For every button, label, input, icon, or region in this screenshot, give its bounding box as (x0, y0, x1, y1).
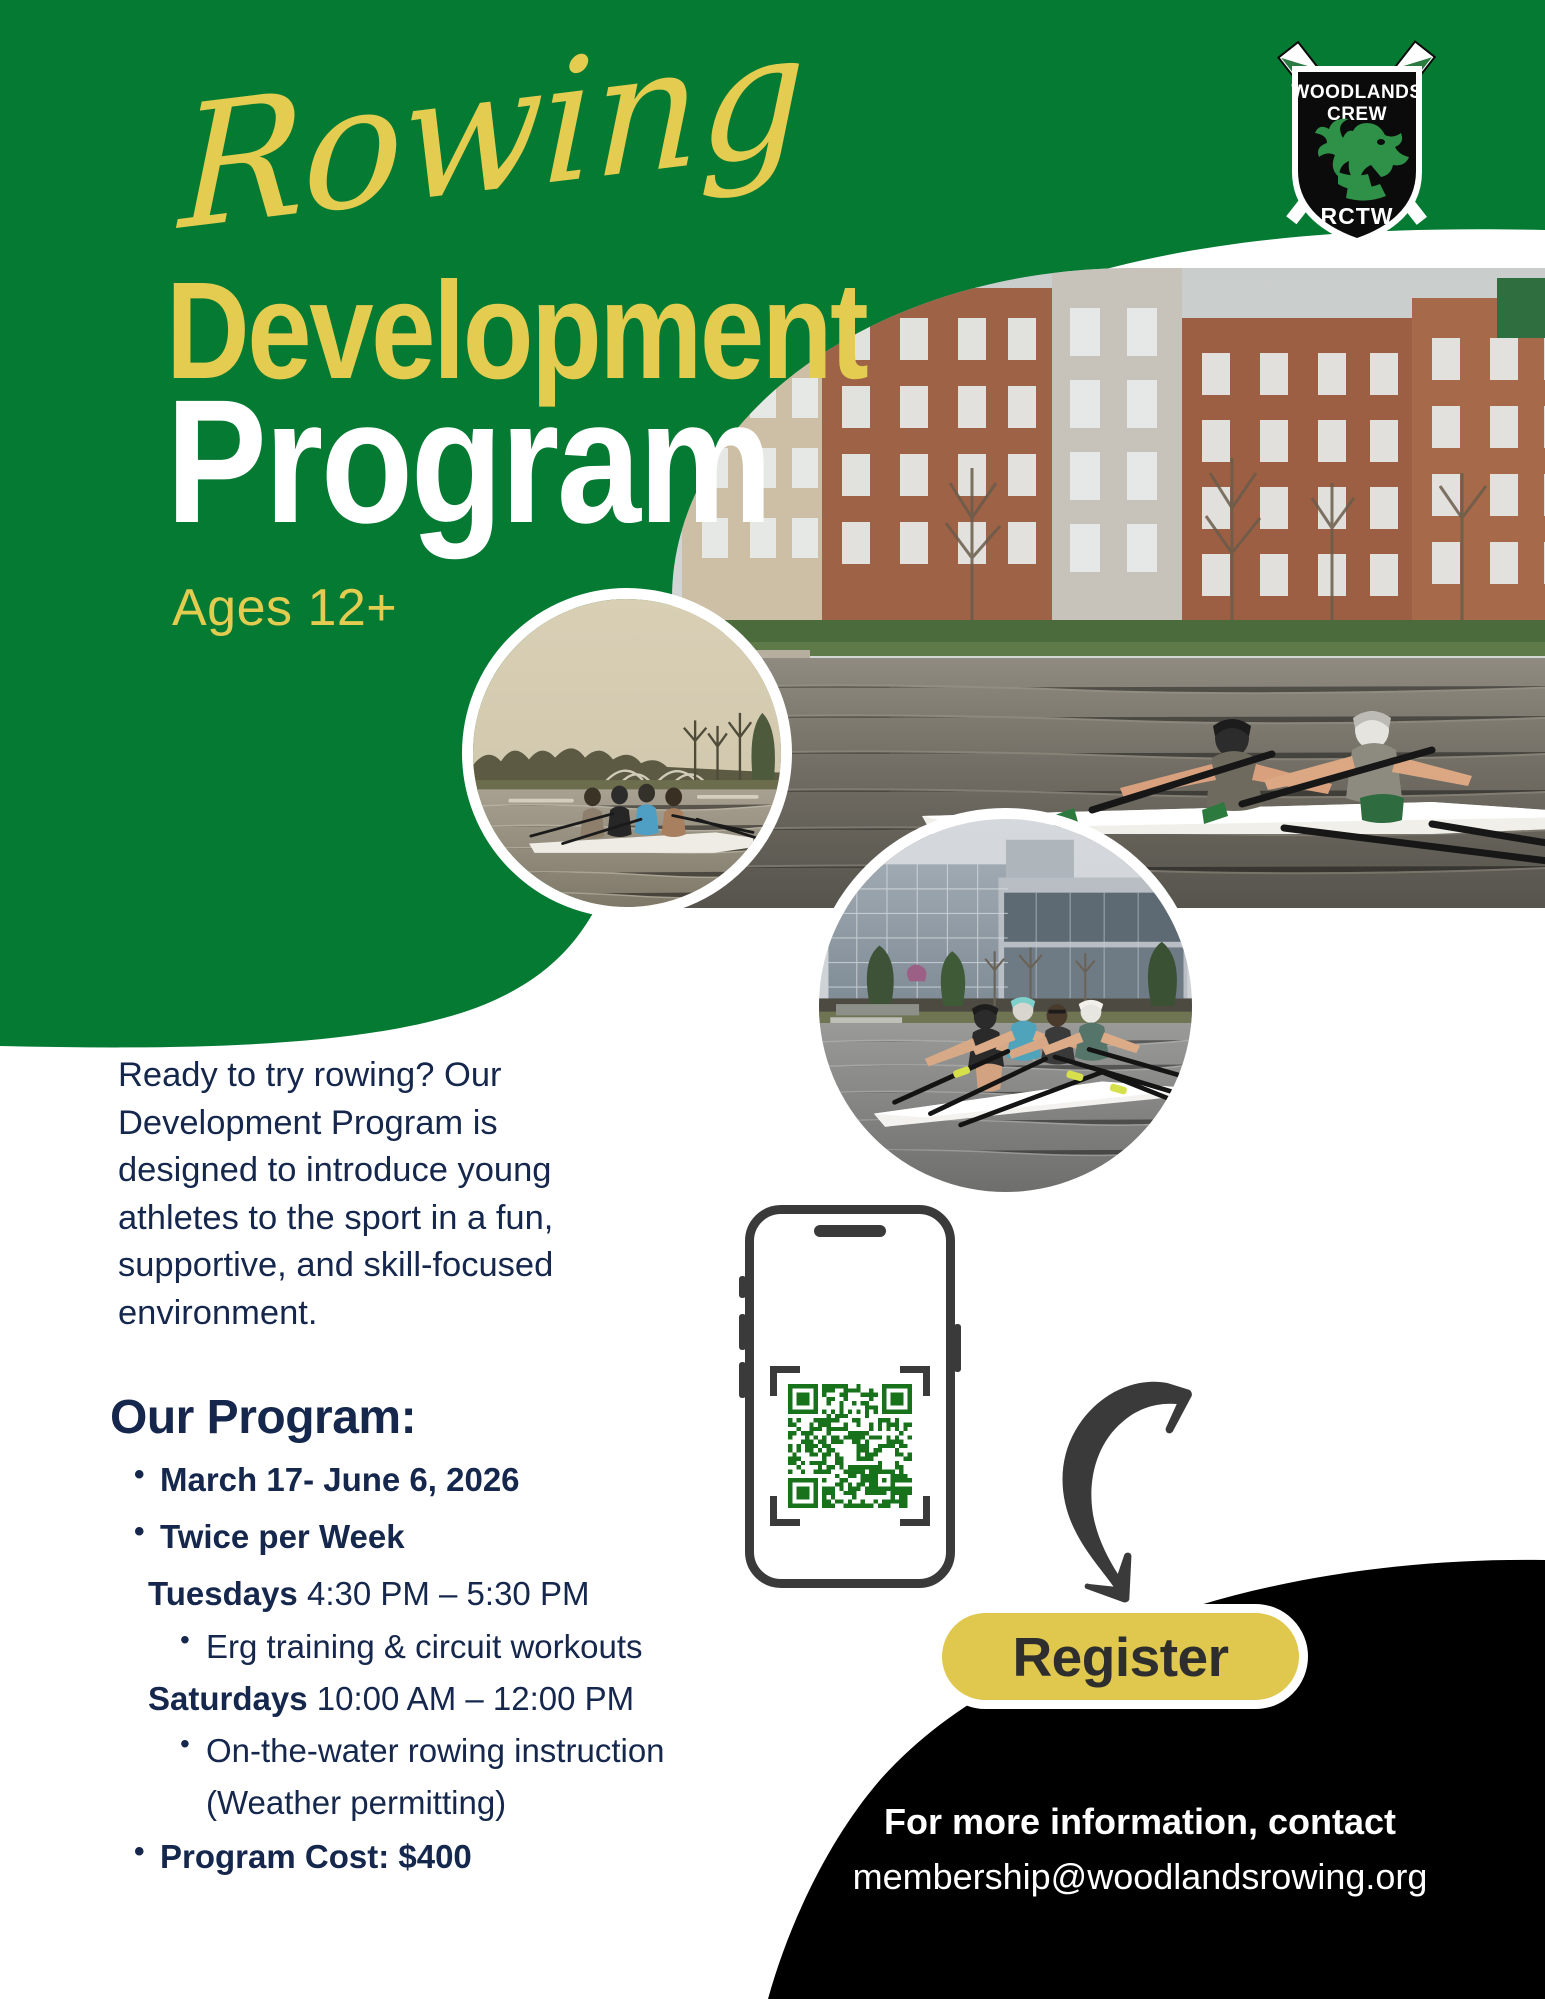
register-button[interactable]: Register (933, 1604, 1308, 1709)
list-item-saturday-note: (Weather permitting) (110, 1779, 750, 1827)
list-item-dates: March 17- June 6, 2026 (110, 1456, 750, 1504)
logo-top-line1: WOODLANDS (1291, 82, 1422, 103)
list-item-cost: Program Cost: $400 (110, 1833, 750, 1881)
program-details-list: March 17- June 6, 2026 Twice per Week Tu… (110, 1456, 750, 1890)
subtitle-ages: Ages 12+ (172, 578, 397, 638)
contact-block: For more information, contact membership… (790, 1798, 1490, 1903)
phone-side-button (739, 1276, 746, 1298)
register-button-label: Register (1012, 1625, 1228, 1689)
qr-code[interactable] (788, 1384, 912, 1508)
woodlands-crew-logo: WOODLANDS CREW RCTW (1222, 32, 1492, 247)
program-heading: Our Program: (110, 1390, 416, 1445)
list-item-saturday-detail: On-the-water rowing instruction (110, 1727, 750, 1775)
contact-heading: For more information, contact (790, 1798, 1490, 1847)
qr-scan-frame (770, 1366, 930, 1526)
script-title-rowing: Rowing (178, 8, 805, 254)
phone-volume-down-button (739, 1362, 746, 1398)
list-item-frequency: Twice per Week (110, 1513, 750, 1561)
photo-quad-at-sunset (462, 588, 792, 918)
saturday-day-label: Saturdays (148, 1680, 308, 1717)
title-program: Program (166, 382, 770, 544)
list-item-tuesday: Tuesdays 4:30 PM – 5:30 PM (110, 1570, 750, 1618)
photo-womens-quad-office-building (808, 808, 1203, 1203)
contact-email[interactable]: membership@woodlandsrowing.org (790, 1851, 1490, 1903)
curved-arrow-icon (1010, 1375, 1210, 1605)
list-item-tuesday-detail: Erg training & circuit workouts (110, 1623, 750, 1671)
phone-mockup (745, 1205, 955, 1588)
tuesday-day-label: Tuesdays (148, 1575, 298, 1612)
phone-volume-up-button (739, 1314, 746, 1350)
tuesday-time-label: 4:30 PM – 5:30 PM (307, 1575, 589, 1612)
phone-notch (814, 1225, 886, 1237)
saturday-time-label: 10:00 AM – 12:00 PM (317, 1680, 634, 1717)
intro-paragraph: Ready to try rowing? Our Development Pro… (118, 1052, 558, 1338)
logo-bottom-text: RCTW (1321, 203, 1394, 229)
list-item-saturday: Saturdays 10:00 AM – 12:00 PM (110, 1675, 750, 1723)
phone-power-button (954, 1324, 961, 1372)
